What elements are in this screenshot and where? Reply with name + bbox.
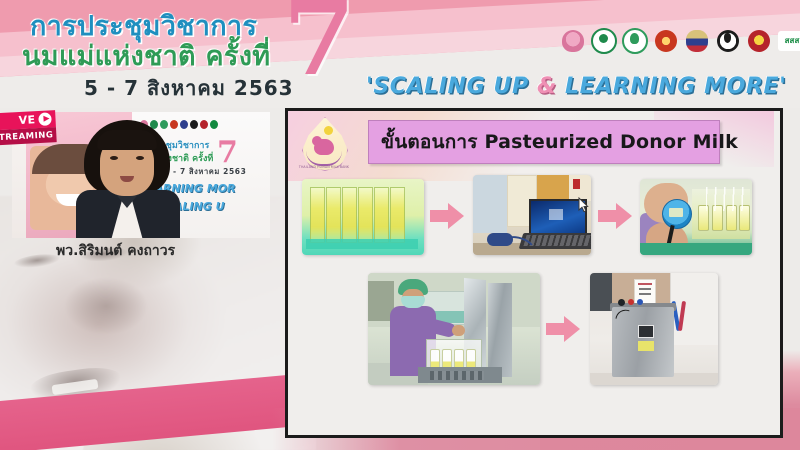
conference-header: การประชุมวิชาการ นมแม่แห่งชาติ ครั้งที่ … bbox=[0, 0, 800, 108]
thaihealth-sss-logo: สสส bbox=[777, 26, 800, 56]
conference-title-line2: นมแม่แห่งชาติ ครั้งที่ bbox=[22, 34, 312, 77]
slide-presentation-screen: การประชุมวิชาการ นมแม่แห่งชาติ ครั้งที่ … bbox=[0, 0, 800, 450]
slogan-ampersand: & bbox=[537, 74, 557, 99]
slide-title: ขั้นตอนการ Pasteurized Donor Milk bbox=[381, 127, 738, 157]
department-of-health-logo bbox=[622, 26, 648, 56]
red-circle-hospital-logo bbox=[746, 26, 772, 56]
speaker-bangs bbox=[97, 130, 157, 150]
milk-bank-logo-caption: THAILAND HUMAN MILK BANK bbox=[294, 165, 354, 169]
milk-bottles-racks-photo bbox=[302, 179, 424, 255]
thai-breastfeeding-foundation-logo bbox=[560, 26, 586, 56]
human-milk-bank-logo: THAILAND HUMAN MILK BANK bbox=[294, 115, 354, 177]
milk-droplet-icon bbox=[324, 126, 333, 135]
green-circle-ministry-logo bbox=[591, 26, 617, 56]
laptop-data-entry-photo bbox=[473, 175, 591, 255]
step-arrow-3 bbox=[546, 316, 580, 342]
edition-number: 7 bbox=[283, 0, 355, 90]
speaker-eye-right bbox=[136, 156, 144, 160]
conference-date: 5 - 7 สิงหาคม 2563 bbox=[84, 72, 294, 104]
slide-title-banner: ขั้นตอนการ Pasteurized Donor Milk bbox=[368, 120, 720, 164]
play-icon bbox=[38, 112, 52, 126]
streaming-label: TREAMING bbox=[0, 130, 54, 143]
video-slide-number: 7 bbox=[217, 138, 238, 168]
live-label: VE bbox=[18, 113, 35, 127]
slogan-part-one: 'SCALING UP bbox=[366, 74, 529, 99]
black-circle-university-logo bbox=[715, 26, 741, 56]
thermometer-timer-photo bbox=[640, 179, 752, 255]
presentation-slide-panel: THAILAND HUMAN MILK BANK ขั้นตอนการ Past… bbox=[285, 108, 783, 438]
conference-slogan: 'SCALING UP & LEARNING MORE' bbox=[366, 74, 786, 99]
nurse-loading-pasteurizer-photo bbox=[368, 273, 540, 385]
sss-logo-label: สสส bbox=[785, 37, 800, 45]
speaker-name: พว.สิริมนต์ คงถาวร bbox=[56, 240, 175, 262]
speaker-eye-left bbox=[110, 156, 118, 160]
mouse-cursor bbox=[578, 197, 588, 212]
live-streaming-badge: VE TREAMING bbox=[0, 110, 57, 148]
sponsor-logos-row: สสส bbox=[560, 26, 800, 56]
step-arrow-1 bbox=[430, 203, 464, 229]
slogan-part-two: LEARNING MORE' bbox=[565, 74, 786, 99]
speaker-portrait bbox=[70, 118, 186, 238]
royal-emblem-logo bbox=[653, 26, 679, 56]
streaming-label-row: TREAMING bbox=[0, 127, 57, 146]
pasteurizer-machine-photo bbox=[590, 273, 718, 385]
step-arrow-2 bbox=[598, 203, 632, 229]
national-institute-logo bbox=[684, 26, 710, 56]
